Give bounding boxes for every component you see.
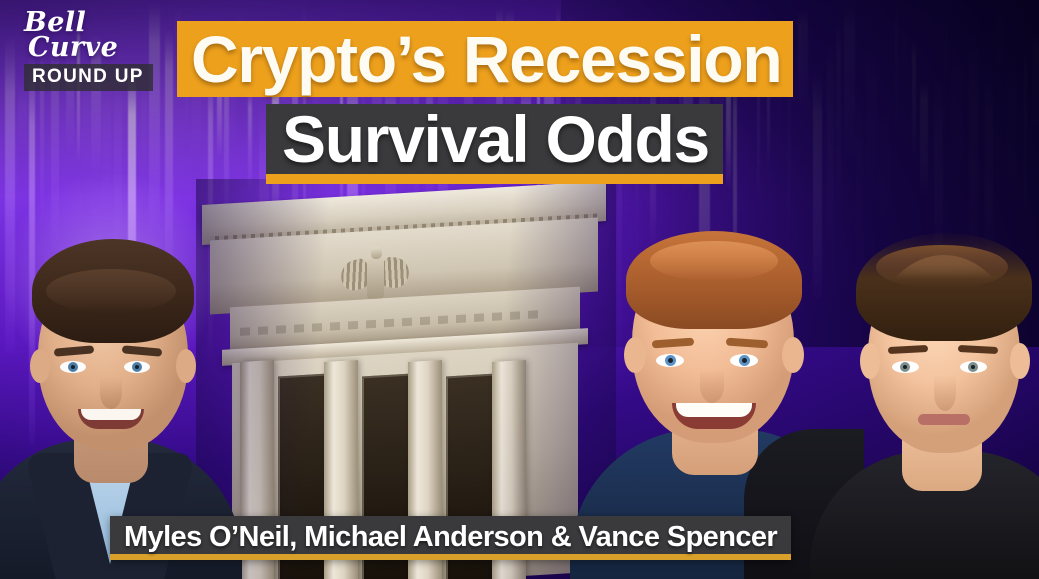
nose [100,377,122,409]
mouth [672,403,756,429]
eye-left [656,354,684,367]
title-line-one: Crypto’s Recession [177,21,793,97]
eye-right [124,361,150,373]
nose [934,375,956,411]
logo-badge-round-up: ROUND UP [24,64,153,91]
eye-right [730,354,758,367]
guest-credits-banner: Myles O’Neil, Michael Anderson & Vance S… [110,516,791,560]
nose [700,369,724,403]
guest-credits-text: Myles O’Neil, Michael Anderson & Vance S… [124,520,777,554]
ear-left [860,343,880,379]
video-thumbnail: Bell Curve ROUND UP Crypto’s Recession S… [0,0,1039,579]
eye-right [960,361,987,373]
eagle-body [367,254,384,299]
hair [626,231,802,329]
eye-left [892,361,919,373]
logo-line-two: Curve [28,35,174,60]
portrait-vance-spencer [830,159,1039,579]
ear-right [176,349,196,383]
title-line-two: Survival Odds [282,104,709,174]
mouth [78,409,144,429]
ear-right [1010,343,1030,379]
eye-left [60,361,86,373]
teeth [676,403,752,417]
eagle-head [371,247,382,260]
mouth [918,414,970,425]
ear-right [782,337,804,373]
ear-left [624,337,646,373]
title-line-two-box: Survival Odds [266,104,723,184]
hair [856,233,1032,341]
hair [32,239,194,343]
ear-left [30,349,50,383]
portrait-myles-oneil [0,149,232,579]
bell-curve-logo[interactable]: Bell Curve ROUND UP [24,10,174,91]
teeth [81,409,141,420]
